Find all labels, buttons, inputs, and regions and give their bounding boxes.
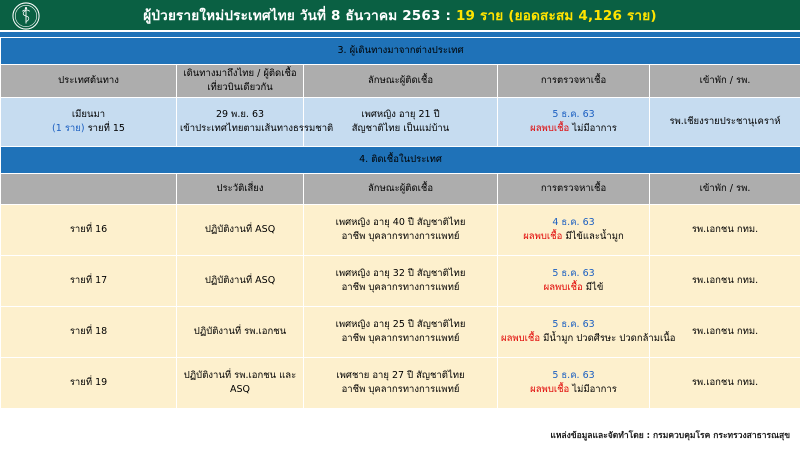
infographic-page: ผู้ป่วยรายใหม่ประเทศไทย วันที่ 8 ธันวาคม… bbox=[0, 0, 800, 450]
test-result-line: ผลพบเชื้อ มีน้ำมูก ปวดศีรษะ ปวดกล้ามเนื้… bbox=[501, 332, 646, 346]
cell-testing: 5 ธ.ค. 63 ผลพบเชื้อ มีน้ำมูก ปวดศีรษะ ปว… bbox=[498, 306, 650, 357]
profile-line-2: อาชีพ บุคลากรทางการแพทย์ bbox=[307, 383, 494, 397]
cases-table: 3. ผู้เดินทางมาจากต่างประเทศ ประเทศต้นทา… bbox=[0, 37, 800, 409]
cell-hospital: รพ.เอกชน กทม. bbox=[650, 357, 800, 408]
section-3-title: 3. ผู้เดินทางมาจากต่างประเทศ bbox=[1, 38, 800, 65]
arrival-date: 29 พ.ย. 63 bbox=[180, 108, 300, 122]
test-symptoms: มีน้ำมูก ปวดศีรษะ ปวดกล้ามเนื้อ bbox=[543, 333, 675, 344]
test-result-line: ผลพบเชื้อ มีไข้ bbox=[501, 281, 646, 295]
column-header-testing: การตรวจหาเชื้อ bbox=[498, 65, 650, 98]
test-result: ผลพบเชื้อ bbox=[544, 282, 583, 293]
test-result-line: ผลพบเชื้อ มีไข้และน้ำมูก bbox=[501, 230, 646, 244]
table-row: รายที่ 16 ปฏิบัติงานที่ ASQ เพศหญิง อายุ… bbox=[1, 204, 800, 255]
section-3-column-headers: ประเทศต้นทาง เดินทางมาถึงไทย / ผู้ติดเชื… bbox=[1, 65, 800, 98]
page-title-count: 19 ราย (ยอดสะสม 4,126 ราย) bbox=[456, 8, 657, 24]
cell-origin-country: เมียนมา (1 ราย) รายที่ 15 bbox=[1, 97, 177, 146]
table-row: เมียนมา (1 ราย) รายที่ 15 29 พ.ย. 63 เข้… bbox=[1, 97, 800, 146]
table-row: รายที่ 18 ปฏิบัติงานที่ รพ.เอกชน เพศหญิง… bbox=[1, 306, 800, 357]
test-symptoms: มีไข้และน้ำมูก bbox=[565, 231, 623, 242]
test-result: ผลพบเชื้อ bbox=[530, 384, 569, 395]
profile-line-1: เพศหญิง อายุ 32 ปี สัญชาติไทย bbox=[307, 267, 494, 281]
page-header: ผู้ป่วยรายใหม่ประเทศไทย วันที่ 8 ธันวาคม… bbox=[0, 0, 800, 32]
cell-risk-history: ปฏิบัติงานที่ รพ.เอกชน bbox=[177, 306, 304, 357]
column-header-hospital-2: เข้าพัก / รพ. bbox=[650, 173, 800, 204]
section-3-bar: 3. ผู้เดินทางมาจากต่างประเทศ bbox=[1, 38, 800, 65]
cell-testing: 5 ธ.ค. 63 ผลพบเชื้อ มีไข้ bbox=[498, 255, 650, 306]
column-header-profile-2: ลักษณะผู้ติดเชื้อ bbox=[304, 173, 498, 204]
source-credit: แหล่งข้อมูลและจัดทำโดย : กรมควบคุมโรค กร… bbox=[550, 428, 790, 442]
table-row: รายที่ 17 ปฏิบัติงานที่ ASQ เพศหญิง อายุ… bbox=[1, 255, 800, 306]
test-result: ผลพบเชื้อ bbox=[523, 231, 562, 242]
table-row: รายที่ 19 ปฏิบัติงานที่ รพ.เอกชน และ ASQ… bbox=[1, 357, 800, 408]
cell-profile: เพศหญิง อายุ 32 ปี สัญชาติไทย อาชีพ บุคล… bbox=[304, 255, 498, 306]
profile-line-1: เพศหญิง อายุ 21 ปี bbox=[307, 108, 494, 122]
arrival-detail: เข้าประเทศไทยตามเส้นทางธรรมชาติ bbox=[180, 122, 300, 136]
cell-hospital: รพ.เอกชน กทม. bbox=[650, 204, 800, 255]
profile-line-2: อาชีพ บุคลากรทางการแพทย์ bbox=[307, 281, 494, 295]
test-date: 5 ธ.ค. 63 bbox=[501, 318, 646, 332]
section-4-column-headers: ประวัติเสี่ยง ลักษณะผู้ติดเชื้อ การตรวจห… bbox=[1, 173, 800, 204]
cell-profile: เพศหญิง อายุ 40 ปี สัญชาติไทย อาชีพ บุคล… bbox=[304, 204, 498, 255]
cell-case-no: รายที่ 16 bbox=[1, 204, 177, 255]
test-date: 4 ธ.ค. 63 bbox=[501, 216, 646, 230]
profile-line-2: สัญชาติไทย เป็นแม่บ้าน bbox=[307, 122, 494, 136]
cell-arrival: 29 พ.ย. 63 เข้าประเทศไทยตามเส้นทางธรรมชา… bbox=[177, 97, 304, 146]
test-result: ผลพบเชื้อ bbox=[530, 123, 569, 134]
cell-case-no: รายที่ 17 bbox=[1, 255, 177, 306]
page-title-prefix: ผู้ป่วยรายใหม่ประเทศไทย วันที่ 8 ธันวาคม… bbox=[143, 8, 456, 24]
profile-line-1: เพศหญิง อายุ 25 ปี สัญชาติไทย bbox=[307, 318, 494, 332]
cell-profile: เพศชาย อายุ 27 ปี สัญชาติไทย อาชีพ บุคลา… bbox=[304, 357, 498, 408]
test-result-line: ผลพบเชื้อ ไม่มีอาการ bbox=[501, 383, 646, 397]
cell-profile: เพศหญิง อายุ 25 ปี สัญชาติไทย อาชีพ บุคล… bbox=[304, 306, 498, 357]
cell-case-no: รายที่ 18 bbox=[1, 306, 177, 357]
cell-hospital: รพ.เอกชน กทม. bbox=[650, 255, 800, 306]
profile-line-2: อาชีพ บุคลากรทางการแพทย์ bbox=[307, 332, 494, 346]
cell-testing: 5 ธ.ค. 63 ผลพบเชื้อ ไม่มีอาการ bbox=[498, 97, 650, 146]
origin-case-no: รายที่ 15 bbox=[88, 123, 125, 134]
column-header-profile: ลักษณะผู้ติดเชื้อ bbox=[304, 65, 498, 98]
ministry-of-public-health-emblem-icon bbox=[12, 2, 40, 30]
cell-case-no: รายที่ 19 bbox=[1, 357, 177, 408]
test-result-line: ผลพบเชื้อ ไม่มีอาการ bbox=[501, 122, 646, 136]
cell-risk-history: ปฏิบัติงานที่ รพ.เอกชน และ ASQ bbox=[177, 357, 304, 408]
section-4-title: 4. ติดเชื้อในประเทศ bbox=[1, 146, 800, 173]
column-header-origin-country: ประเทศต้นทาง bbox=[1, 65, 177, 98]
origin-country-name: เมียนมา bbox=[4, 108, 173, 122]
column-header-testing-2: การตรวจหาเชื้อ bbox=[498, 173, 650, 204]
profile-line-1: เพศชาย อายุ 27 ปี สัญชาติไทย bbox=[307, 369, 494, 383]
origin-case-line: (1 ราย) รายที่ 15 bbox=[4, 122, 173, 136]
column-header-case-no bbox=[1, 173, 177, 204]
test-symptoms: มีไข้ bbox=[586, 282, 604, 293]
cell-risk-history: ปฏิบัติงานที่ ASQ bbox=[177, 255, 304, 306]
cell-hospital: รพ.เชียงรายประชานุเคราห์ bbox=[650, 97, 800, 146]
cell-testing: 4 ธ.ค. 63 ผลพบเชื้อ มีไข้และน้ำมูก bbox=[498, 204, 650, 255]
cell-testing: 5 ธ.ค. 63 ผลพบเชื้อ ไม่มีอาการ bbox=[498, 357, 650, 408]
column-header-arrival: เดินทางมาถึงไทย / ผู้ติดเชื้อเที่ยวบินเด… bbox=[177, 65, 304, 98]
profile-line-2: อาชีพ บุคลากรทางการแพทย์ bbox=[307, 230, 494, 244]
cell-profile: เพศหญิง อายุ 21 ปี สัญชาติไทย เป็นแม่บ้า… bbox=[304, 97, 498, 146]
page-title: ผู้ป่วยรายใหม่ประเทศไทย วันที่ 8 ธันวาคม… bbox=[143, 4, 656, 26]
profile-line-1: เพศหญิง อายุ 40 ปี สัญชาติไทย bbox=[307, 216, 494, 230]
column-header-hospital: เข้าพัก / รพ. bbox=[650, 65, 800, 98]
cell-risk-history: ปฏิบัติงานที่ ASQ bbox=[177, 204, 304, 255]
section-4-bar: 4. ติดเชื้อในประเทศ bbox=[1, 146, 800, 173]
test-date: 5 ธ.ค. 63 bbox=[501, 108, 646, 122]
test-symptoms: ไม่มีอาการ bbox=[572, 384, 617, 395]
cell-hospital: รพ.เอกชน กทม. bbox=[650, 306, 800, 357]
column-header-risk-history: ประวัติเสี่ยง bbox=[177, 173, 304, 204]
test-result: ผลพบเชื้อ bbox=[501, 333, 540, 344]
test-date: 5 ธ.ค. 63 bbox=[501, 369, 646, 383]
origin-count: (1 ราย) bbox=[52, 123, 84, 134]
test-symptoms: ไม่มีอาการ bbox=[572, 123, 617, 134]
test-date: 5 ธ.ค. 63 bbox=[501, 267, 646, 281]
